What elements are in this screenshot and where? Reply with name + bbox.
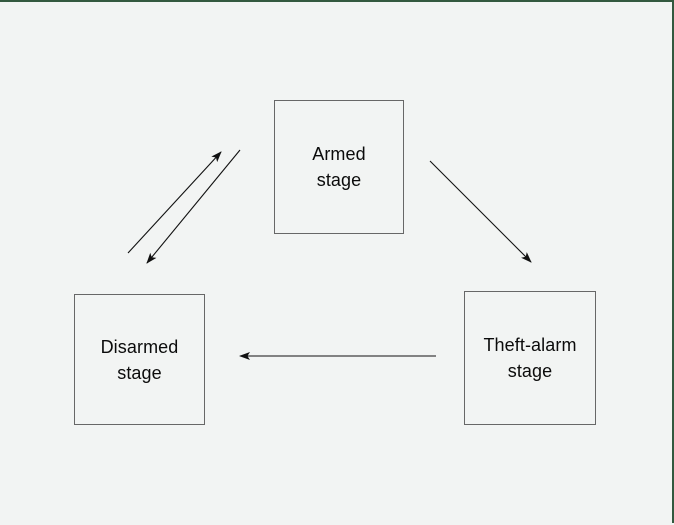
node-armed-stage[interactable]: Armed stage	[274, 100, 404, 234]
node-armed-stage-label: Armed stage	[312, 141, 366, 193]
edge-armed-to-theft-alarm	[430, 161, 531, 262]
node-theft-alarm-stage-label: Theft-alarm stage	[483, 332, 576, 384]
diagram-canvas: Armed stage Disarmed stage Theft-alarm s…	[0, 0, 674, 523]
edge-armed-to-disarmed	[147, 150, 240, 263]
edge-disarmed-to-armed	[128, 152, 221, 253]
node-theft-alarm-stage[interactable]: Theft-alarm stage	[464, 291, 596, 425]
diagram-connectors	[0, 2, 674, 525]
node-disarmed-stage[interactable]: Disarmed stage	[74, 294, 205, 425]
node-disarmed-stage-label: Disarmed stage	[101, 334, 179, 386]
